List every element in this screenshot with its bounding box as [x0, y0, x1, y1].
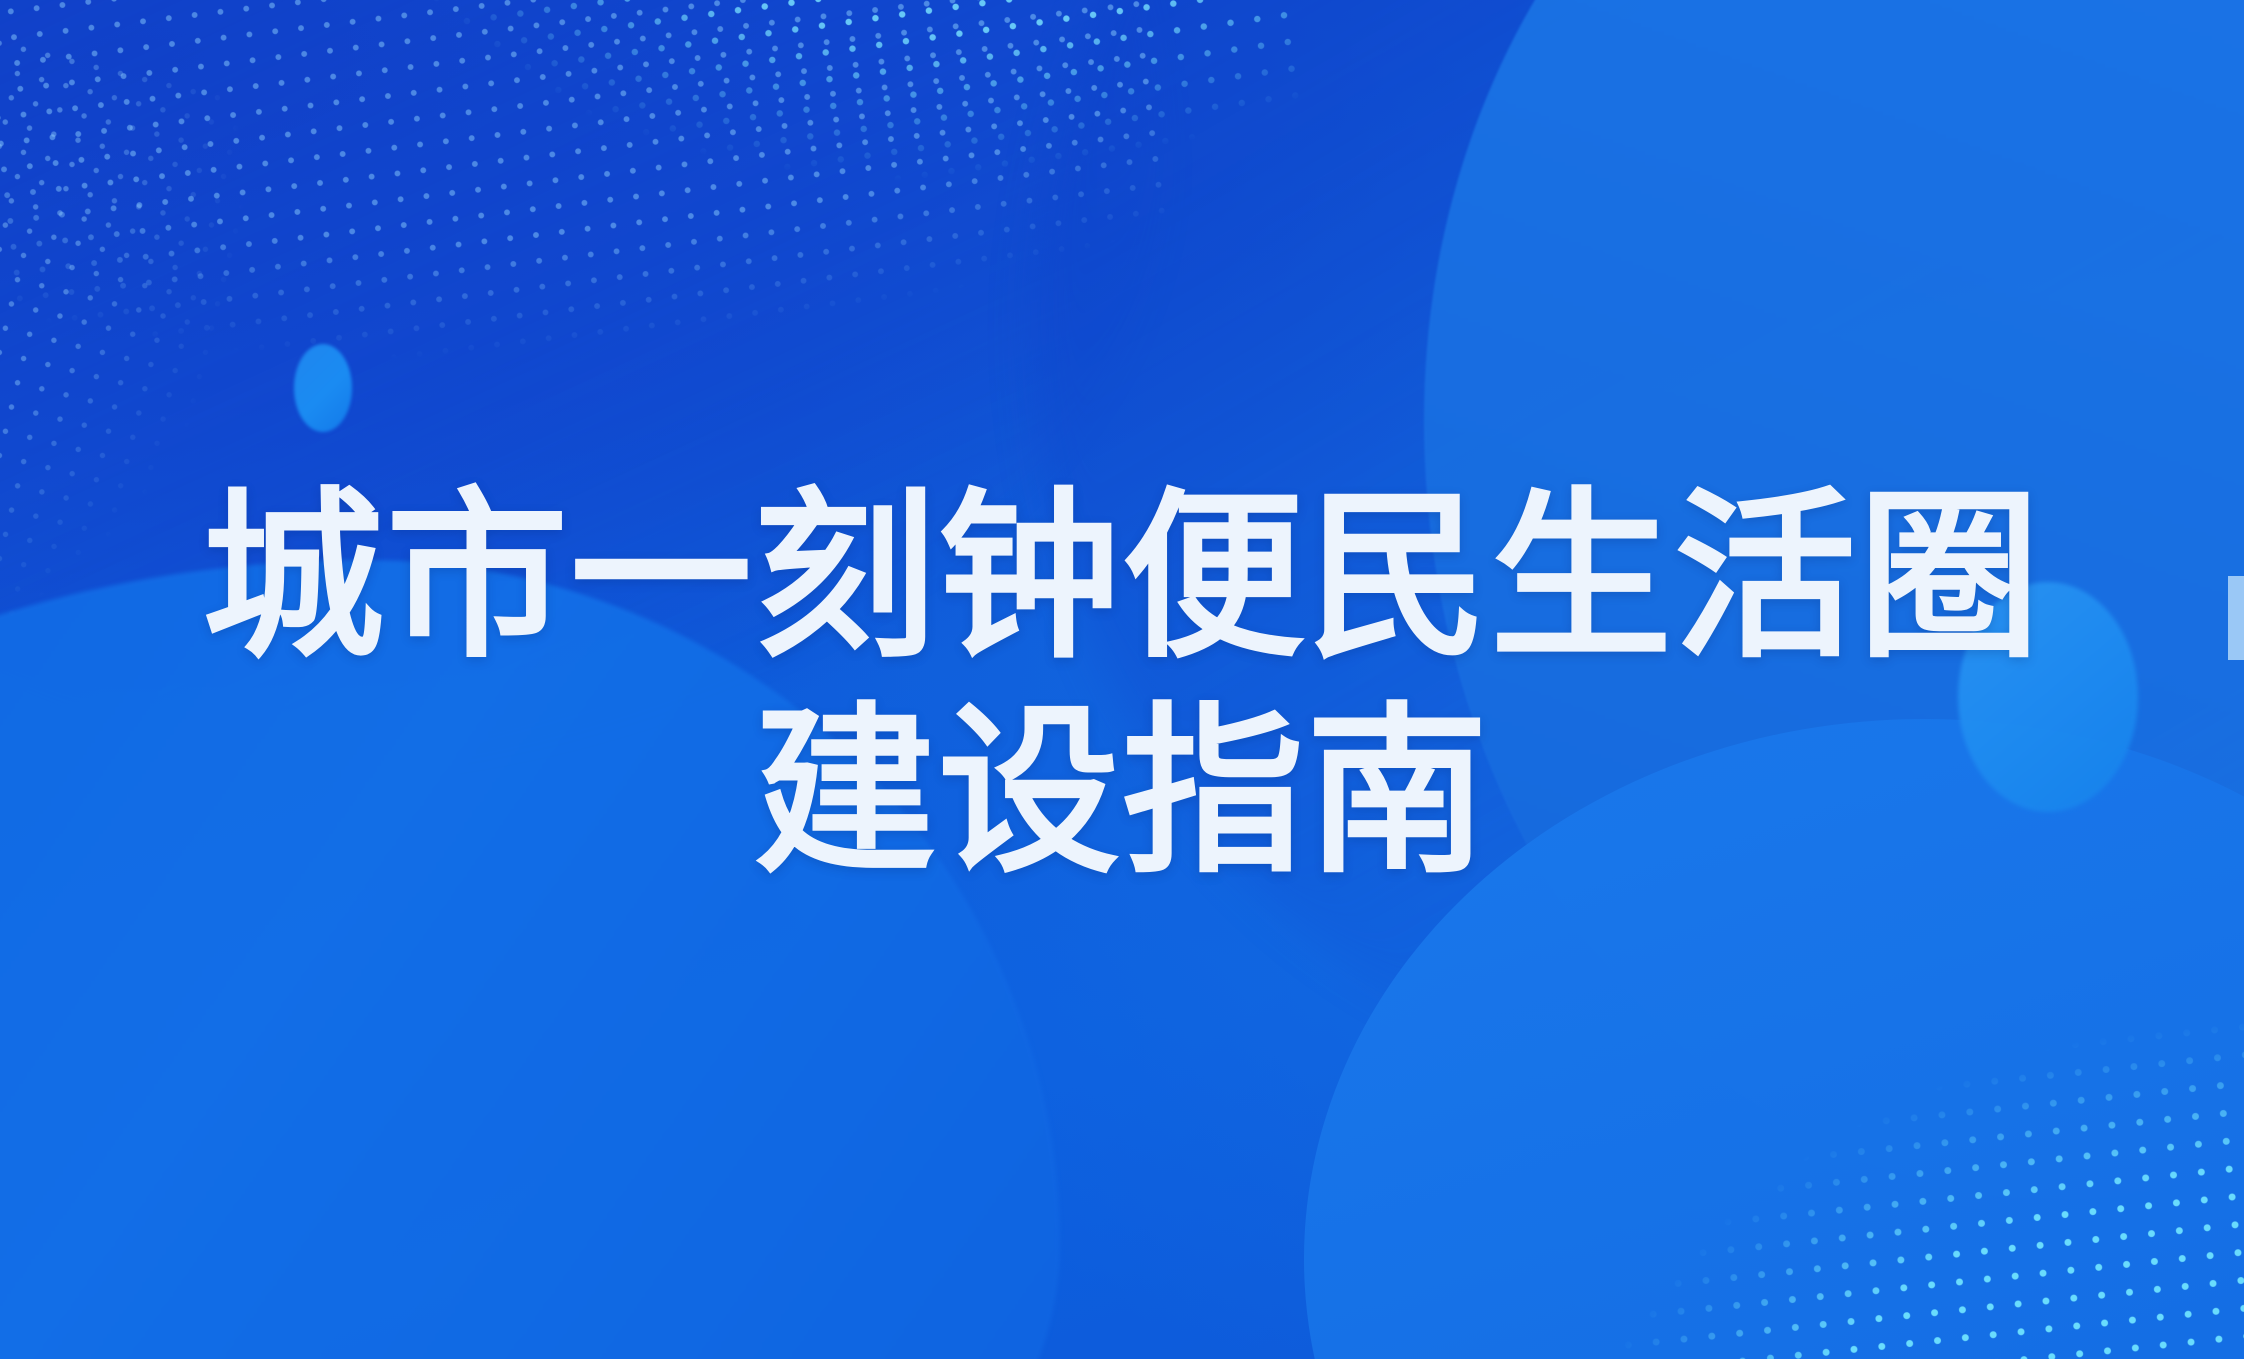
page-title: 城市一刻钟便民生活圈 建设指南	[0, 470, 2244, 900]
title-line-2: 建设指南	[0, 685, 2244, 900]
ellipse-left-small	[294, 344, 352, 432]
poster-canvas: 城市一刻钟便民生活圈 建设指南	[0, 0, 2244, 1359]
title-line-1: 城市一刻钟便民生活圈	[0, 470, 2244, 685]
